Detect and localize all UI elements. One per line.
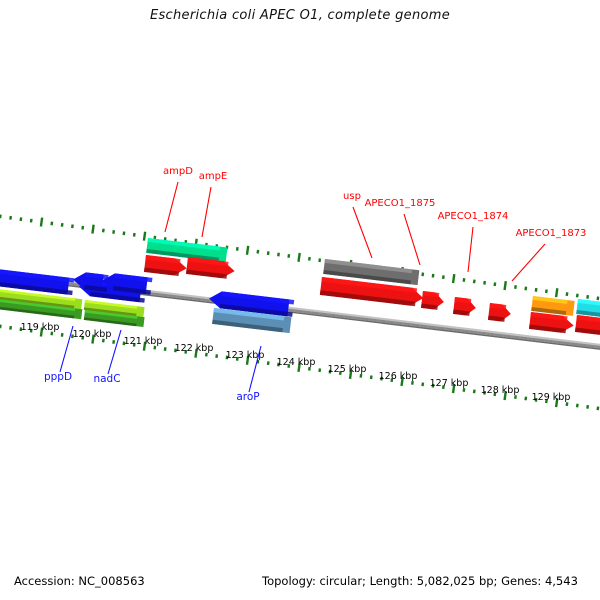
scale-tick-label: 122 kbp [175,343,214,354]
gene-labels-bottom[interactable]: pppDnadCaroP [44,371,260,403]
gene-feature[interactable] [421,291,445,310]
features-above-axis[interactable] [0,238,600,336]
scale-tick-label: 128 kbp [481,385,520,396]
gene-feature[interactable] [453,297,477,316]
gene-label[interactable]: nadC [93,373,120,385]
accession-text: Accession: NC_008563 [14,574,145,588]
scale-tick-label: 124 kbp [277,357,316,368]
gene-labels-top[interactable]: ampDampEuspAPECO1_1875APECO1_1874APECO1_… [163,166,586,239]
scale-tick-label: 121 kbp [124,336,163,347]
gene-label[interactable]: ampD [163,166,193,177]
gene-label[interactable]: ampE [199,171,228,182]
gene-feature[interactable] [186,257,236,280]
scale-tick-label: 119 kbp [21,322,60,333]
topology-text: Topology: circular; Length: 5,082,025 bp… [262,574,578,588]
scale-tick-label: 123 kbp [226,350,265,361]
gene-feature[interactable] [144,255,188,277]
gene-feature[interactable] [575,315,600,336]
gene-label[interactable]: pppD [44,371,72,383]
scale-tick-label: 126 kbp [379,371,418,382]
gene-feature[interactable] [576,299,600,318]
gene-label[interactable]: APECO1_1875 [365,198,436,209]
scale-tick-label: 129 kbp [532,392,571,403]
genome-map-canvas[interactable]: ampDampEuspAPECO1_1875APECO1_1874APECO1_… [0,0,600,560]
gene-label[interactable]: APECO1_1873 [516,228,587,239]
gene-feature[interactable] [529,312,575,334]
scale-tick-label: 127 kbp [430,378,469,389]
scale-tick-label: 125 kbp [328,364,367,375]
gene-label[interactable]: aroP [236,391,259,403]
gene-feature[interactable] [488,303,512,322]
scale-tick-label: 120 kbp [73,329,112,340]
gene-label[interactable]: APECO1_1874 [438,211,509,222]
genome-viewer-window: Escherichia coli APEC O1, complete genom… [0,0,600,600]
gene-label[interactable]: usp [343,191,361,202]
